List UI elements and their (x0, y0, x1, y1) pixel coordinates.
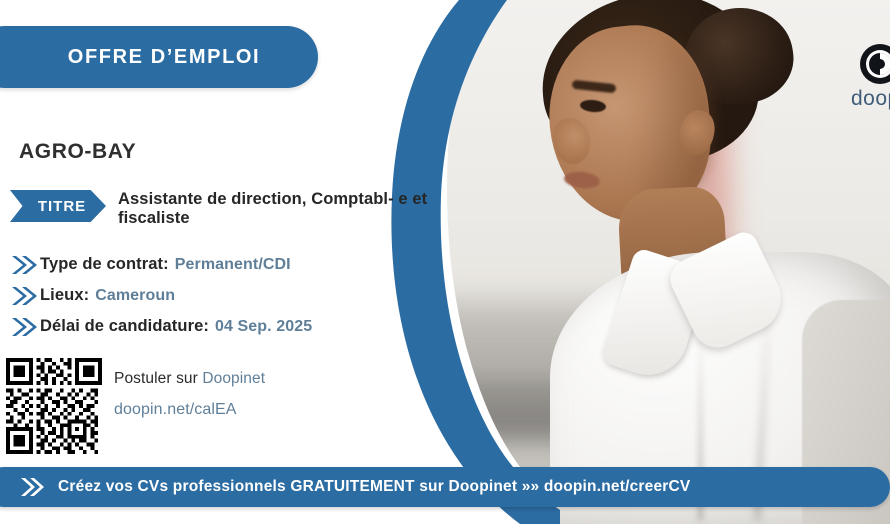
apply-url[interactable]: doopin.net/calEA (114, 401, 265, 419)
detail-value: 04 Sep. 2025 (215, 318, 312, 336)
person-figure (430, 0, 890, 524)
detail-value: Permanent/CDI (175, 256, 291, 274)
double-chevron-icon (10, 254, 40, 276)
apply-text-block: Postuler sur Doopinet doopin.net/calEA (114, 358, 265, 419)
doopinet-wordmark: doop (851, 87, 890, 111)
detail-label: Délai de candidature: (40, 317, 209, 336)
offre-demploi-badge: OFFRE D’EMPLOI (0, 26, 318, 88)
titre-ribbon-label: TITRE (30, 198, 86, 215)
candidate-photo (430, 0, 890, 524)
detail-label: Type de contrat: (40, 255, 169, 274)
offre-demploi-label: OFFRE D’EMPLOI (32, 46, 260, 69)
apply-brand: Doopinet (202, 370, 265, 387)
detail-row-deadline: Délai de candidature: 04 Sep. 2025 (10, 311, 430, 342)
job-title-text: Assistante de direction, Comptabl- e et … (118, 190, 438, 228)
double-chevron-icon (10, 285, 40, 307)
doopinet-circle-mark-icon (855, 42, 890, 86)
detail-row-location: Lieux: Cameroun (10, 280, 430, 311)
job-title-row: TITRE Assistante de direction, Comptabl-… (10, 190, 438, 228)
apply-prefix: Postuler sur (114, 370, 202, 387)
titre-ribbon: TITRE (10, 190, 106, 222)
job-details-list: Type de contrat: Permanent/CDI Lieux: Ca… (10, 249, 430, 342)
apply-block: Postuler sur Doopinet doopin.net/calEA (6, 358, 265, 454)
detail-label: Lieux: (40, 286, 89, 305)
job-offer-poster: OFFRE D’EMPLOI AGRO-BAY TITRE Assistante… (0, 0, 890, 524)
detail-value: Cameroun (95, 287, 175, 305)
double-chevron-icon (10, 316, 40, 338)
bottom-cta-banner[interactable]: Créez vos CVs professionnels GRATUITEMEN… (0, 467, 890, 507)
bottom-cta-text: Créez vos CVs professionnels GRATUITEMEN… (58, 478, 690, 496)
company-name: AGRO-BAY (19, 140, 136, 164)
qr-code[interactable] (6, 358, 102, 454)
doopinet-logo: doop (855, 42, 890, 116)
double-chevron-icon (20, 477, 46, 497)
apply-prefix-line: Postuler sur Doopinet (114, 370, 265, 388)
detail-row-contract-type: Type de contrat: Permanent/CDI (10, 249, 430, 280)
